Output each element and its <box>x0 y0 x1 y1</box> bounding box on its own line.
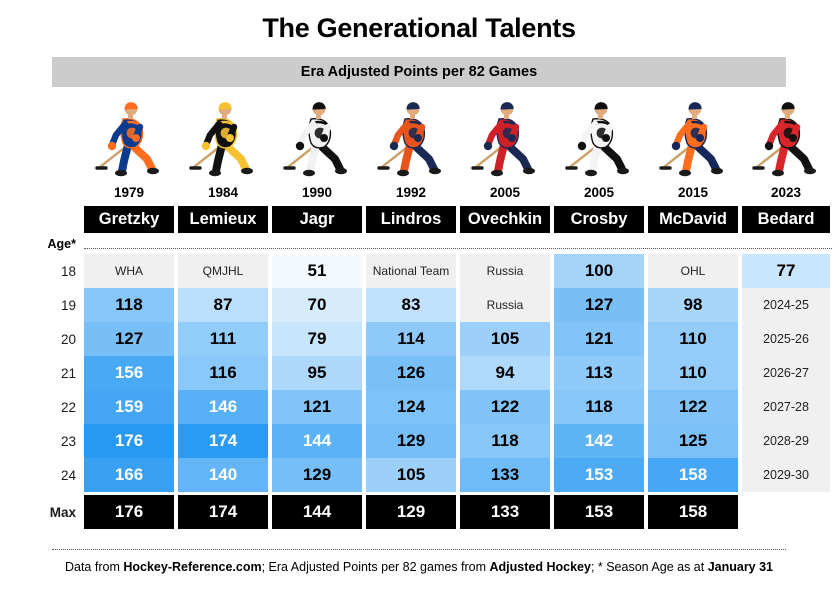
cell-wrap: 2029-30 <box>742 458 836 492</box>
footer-text-2: ; Era Adjusted Points per 82 games from <box>262 560 490 574</box>
points-cell: 159 <box>84 390 174 424</box>
photo-col <box>554 88 648 181</box>
cell-wrap: 2027-28 <box>742 390 836 424</box>
points-cell: 144 <box>272 424 362 458</box>
table-row: 231761741441291181421252028-29 <box>0 424 838 458</box>
points-cell: 126 <box>366 356 456 390</box>
player-photo-cell <box>460 88 550 181</box>
skater-oilers-icon <box>92 93 166 179</box>
max-value-lindros: 129 <box>366 495 456 529</box>
draft-year-row: 1979 1984 1990 1992 2005 2005 2015 2023 <box>0 181 838 205</box>
skater-penguins-w-icon <box>280 93 354 179</box>
points-cell: 122 <box>648 390 738 424</box>
age-label: 22 <box>0 390 84 424</box>
points-cell: 70 <box>272 288 362 322</box>
league-note-cell: WHA <box>84 254 174 288</box>
footer-text-3: ; * Season Age as at <box>591 560 708 574</box>
age-label: 18 <box>0 254 84 288</box>
max-value-bedard <box>742 495 830 529</box>
year-row-spacer <box>0 181 84 205</box>
footer-credits: Data from Hockey-Reference.com; Era Adju… <box>0 560 838 574</box>
table-row: 2115611695126941131102026-27 <box>0 356 838 390</box>
points-cell: 79 <box>272 322 362 356</box>
points-cell: 105 <box>460 322 550 356</box>
future-season-cell: 2025-26 <box>742 322 830 356</box>
max-value-crosby: 153 <box>554 495 644 529</box>
points-cell: 176 <box>84 424 174 458</box>
cell-wrap: 95 <box>272 356 366 390</box>
subtitle-bar: Era Adjusted Points per 82 Games <box>52 57 786 87</box>
league-note-cell: QMJHL <box>178 254 268 288</box>
draft-year: 1992 <box>366 181 456 205</box>
points-cell: 142 <box>554 424 644 458</box>
points-cell: 124 <box>366 390 456 424</box>
cell-wrap: 70 <box>272 288 366 322</box>
player-photo-cell <box>84 88 174 181</box>
points-cell: 51 <box>272 254 362 288</box>
points-cell: 118 <box>84 288 174 322</box>
points-cell: 77 <box>742 254 830 288</box>
draft-year: 1979 <box>84 181 174 205</box>
age-label: 20 <box>0 322 84 356</box>
cell-wrap: Russia <box>460 254 554 288</box>
points-cell: 133 <box>460 458 550 492</box>
points-cell: 156 <box>84 356 174 390</box>
cell-wrap: OHL <box>648 254 742 288</box>
cell-wrap: 111 <box>178 322 272 356</box>
skater-penguins-icon <box>186 93 260 179</box>
cell-wrap: 2024-25 <box>742 288 836 322</box>
player-photo-cell <box>178 88 268 181</box>
player-name-bedard[interactable]: Bedard <box>742 206 830 233</box>
table-row: 19118877083Russia127982024-25 <box>0 288 838 322</box>
subtitle-text: Era Adjusted Points per 82 Games <box>301 64 537 80</box>
league-note-cell: National Team <box>366 254 456 288</box>
cell-wrap: 113 <box>554 356 648 390</box>
player-name-lindros[interactable]: Lindros <box>366 206 456 233</box>
max-value-mcdavid: 158 <box>648 495 738 529</box>
player-photo-cell <box>554 88 644 181</box>
points-cell: 125 <box>648 424 738 458</box>
cell-wrap: 121 <box>272 390 366 424</box>
draft-year: 2005 <box>460 181 550 205</box>
footer-text-1: Data from <box>65 560 123 574</box>
points-cell: 105 <box>366 458 456 492</box>
points-cell: 158 <box>648 458 738 492</box>
photo-col <box>84 88 178 181</box>
age-header-label: Age* <box>0 233 84 254</box>
cell-wrap: 116 <box>178 356 272 390</box>
stats-table: 1979 1984 1990 1992 2005 2005 2015 2023 … <box>0 88 838 529</box>
cell-wrap: 140 <box>178 458 272 492</box>
cell-wrap: 159 <box>84 390 178 424</box>
player-photo-row <box>0 88 838 181</box>
points-cell: 174 <box>178 424 268 458</box>
points-cell: 121 <box>272 390 362 424</box>
player-name-ovechkin[interactable]: Ovechkin <box>460 206 550 233</box>
cell-wrap: 105 <box>366 458 460 492</box>
cell-wrap: 77 <box>742 254 836 288</box>
points-cell: 129 <box>366 424 456 458</box>
age-label: 19 <box>0 288 84 322</box>
player-name-gretzky[interactable]: Gretzky <box>84 206 174 233</box>
points-cell: 113 <box>554 356 644 390</box>
max-row: Max 176 174 144 129 133 153 158 <box>0 495 838 529</box>
cell-wrap: 166 <box>84 458 178 492</box>
player-name-mcdavid[interactable]: McDavid <box>648 206 738 233</box>
cell-wrap: 122 <box>460 390 554 424</box>
points-cell: 87 <box>178 288 268 322</box>
age-label: 23 <box>0 424 84 458</box>
future-season-cell: 2027-28 <box>742 390 830 424</box>
skater-capitals-icon <box>468 93 542 179</box>
photo-col <box>272 88 366 181</box>
draft-year: 1984 <box>178 181 268 205</box>
cell-wrap: 174 <box>178 424 272 458</box>
cell-wrap: 176 <box>84 424 178 458</box>
photo-col <box>460 88 554 181</box>
cell-wrap: 142 <box>554 424 648 458</box>
table-row: 241661401291051331531582029-30 <box>0 458 838 492</box>
cell-wrap: 2026-27 <box>742 356 836 390</box>
cell-wrap: 98 <box>648 288 742 322</box>
points-cell: 83 <box>366 288 456 322</box>
points-cell: 116 <box>178 356 268 390</box>
points-cell: 98 <box>648 288 738 322</box>
cell-wrap: 146 <box>178 390 272 424</box>
player-photo-cell <box>742 88 830 181</box>
max-row-label: Max <box>0 495 84 529</box>
cell-wrap: 144 <box>272 424 366 458</box>
cell-wrap: 127 <box>554 288 648 322</box>
points-cell: 118 <box>460 424 550 458</box>
photo-row-spacer <box>0 88 84 181</box>
points-cell: 146 <box>178 390 268 424</box>
footer-source-adjusted-hockey[interactable]: Adjusted Hockey <box>490 560 591 574</box>
draft-year: 2023 <box>742 181 830 205</box>
max-value-gretzky: 176 <box>84 495 174 529</box>
draft-year: 2015 <box>648 181 738 205</box>
header-dotted-rule <box>84 248 832 249</box>
cell-wrap: 94 <box>460 356 554 390</box>
skater-penguins-w-icon <box>562 93 636 179</box>
page-title: The Generational Talents <box>0 0 838 46</box>
points-cell: 118 <box>554 390 644 424</box>
age-header-row: Age* <box>0 233 838 254</box>
photo-col <box>648 88 742 181</box>
cell-wrap: National Team <box>366 254 460 288</box>
max-value-lemieux: 174 <box>178 495 268 529</box>
player-name-lemieux[interactable]: Lemieux <box>178 206 268 233</box>
cell-wrap: WHA <box>84 254 178 288</box>
future-season-cell: 2026-27 <box>742 356 830 390</box>
skater-oilers-o-icon <box>656 93 730 179</box>
cell-wrap: 87 <box>178 288 272 322</box>
league-note-cell: Russia <box>460 254 550 288</box>
points-cell: 94 <box>460 356 550 390</box>
player-photo-cell <box>272 88 362 181</box>
future-season-cell: 2028-29 <box>742 424 830 458</box>
cell-wrap: 114 <box>366 322 460 356</box>
points-cell: 127 <box>84 322 174 356</box>
player-name-row: Gretzky Lemieux Jagr Lindros Ovechkin Cr… <box>0 206 838 233</box>
cell-wrap: 121 <box>554 322 648 356</box>
cell-wrap: 129 <box>366 424 460 458</box>
footer-source-hockey-reference[interactable]: Hockey-Reference.com <box>123 560 261 574</box>
cell-wrap: 79 <box>272 322 366 356</box>
cell-wrap: 83 <box>366 288 460 322</box>
cell-wrap: 100 <box>554 254 648 288</box>
points-cell: 127 <box>554 288 644 322</box>
name-row-spacer <box>0 206 84 233</box>
points-cell: 129 <box>272 458 362 492</box>
cell-wrap: 153 <box>554 458 648 492</box>
cell-wrap: 110 <box>648 356 742 390</box>
cell-wrap: 125 <box>648 424 742 458</box>
points-cell: 140 <box>178 458 268 492</box>
table-row: 221591461211241221181222027-28 <box>0 390 838 424</box>
age-label: 21 <box>0 356 84 390</box>
cell-wrap: 118 <box>84 288 178 322</box>
points-cell: 110 <box>648 322 738 356</box>
cell-wrap: QMJHL <box>178 254 272 288</box>
cell-wrap: 129 <box>272 458 366 492</box>
player-name-jagr[interactable]: Jagr <box>272 206 362 233</box>
table-row: 18WHAQMJHL51National TeamRussia100OHL77 <box>0 254 838 288</box>
points-cell: 100 <box>554 254 644 288</box>
footer-season-age-date: January 31 <box>708 560 773 574</box>
points-cell: 166 <box>84 458 174 492</box>
data-rows-container: 18WHAQMJHL51National TeamRussia100OHL771… <box>0 254 838 492</box>
age-label: 24 <box>0 458 84 492</box>
photo-col <box>366 88 460 181</box>
points-cell: 111 <box>178 322 268 356</box>
points-cell: 153 <box>554 458 644 492</box>
cell-wrap: 158 <box>648 458 742 492</box>
cell-wrap: 105 <box>460 322 554 356</box>
points-cell: 114 <box>366 322 456 356</box>
cell-wrap: 110 <box>648 322 742 356</box>
cell-wrap: 126 <box>366 356 460 390</box>
cell-wrap: 2028-29 <box>742 424 836 458</box>
cell-wrap: 124 <box>366 390 460 424</box>
skater-flyers-icon <box>374 93 448 179</box>
table-row: 20127111791141051211102025-26 <box>0 322 838 356</box>
cell-wrap: 2025-26 <box>742 322 836 356</box>
future-season-cell: 2029-30 <box>742 458 830 492</box>
player-photo-cell <box>366 88 456 181</box>
footer-dotted-rule <box>52 549 786 550</box>
cell-wrap: 122 <box>648 390 742 424</box>
points-cell: 110 <box>648 356 738 390</box>
draft-year: 1990 <box>272 181 362 205</box>
points-cell: 121 <box>554 322 644 356</box>
max-value-jagr: 144 <box>272 495 362 529</box>
photo-col <box>178 88 272 181</box>
league-note-cell: Russia <box>460 288 550 322</box>
future-season-cell: 2024-25 <box>742 288 830 322</box>
player-photo-cell <box>648 88 738 181</box>
league-note-cell: OHL <box>648 254 738 288</box>
cell-wrap: 118 <box>554 390 648 424</box>
draft-year: 2005 <box>554 181 644 205</box>
cell-wrap: 127 <box>84 322 178 356</box>
points-cell: 95 <box>272 356 362 390</box>
max-value-ovechkin: 133 <box>460 495 550 529</box>
cell-wrap: 133 <box>460 458 554 492</box>
points-cell: 122 <box>460 390 550 424</box>
cell-wrap: 156 <box>84 356 178 390</box>
player-name-crosby[interactable]: Crosby <box>554 206 644 233</box>
photo-col <box>742 88 836 181</box>
skater-blackhawks-icon <box>749 93 823 179</box>
cell-wrap: 118 <box>460 424 554 458</box>
cell-wrap: Russia <box>460 288 554 322</box>
cell-wrap: 51 <box>272 254 366 288</box>
